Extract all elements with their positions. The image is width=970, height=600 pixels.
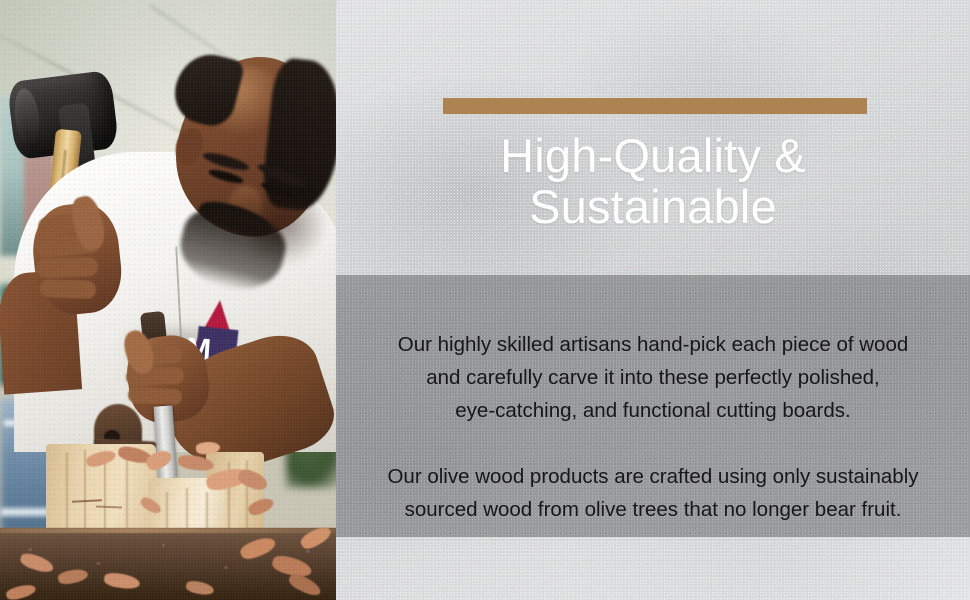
finger (40, 279, 97, 299)
product-feature-banner: M (0, 0, 970, 600)
bench-speck (162, 544, 165, 547)
bench-speck (306, 550, 310, 553)
description-text-block: Our highly skilled artisans hand-pick ea… (344, 295, 962, 559)
bench-speck (224, 566, 228, 569)
description-band: Our highly skilled artisans hand-pick ea… (336, 275, 970, 537)
artisan-photo: M (0, 0, 336, 600)
finger (36, 257, 99, 278)
gold-divider-rule (443, 98, 867, 114)
description-paragraph-2: Our olive wood products are crafted usin… (344, 460, 962, 526)
description-paragraph-1: Our highly skilled artisans hand-pick ea… (398, 333, 909, 422)
bench-speck (96, 562, 101, 565)
workbench-edge (0, 528, 336, 533)
text-panel: High-Quality & Sustainable Our highly sk… (336, 0, 970, 600)
page-title: High-Quality & Sustainable (336, 130, 970, 232)
finger (128, 387, 183, 406)
bench-speck (28, 548, 32, 551)
